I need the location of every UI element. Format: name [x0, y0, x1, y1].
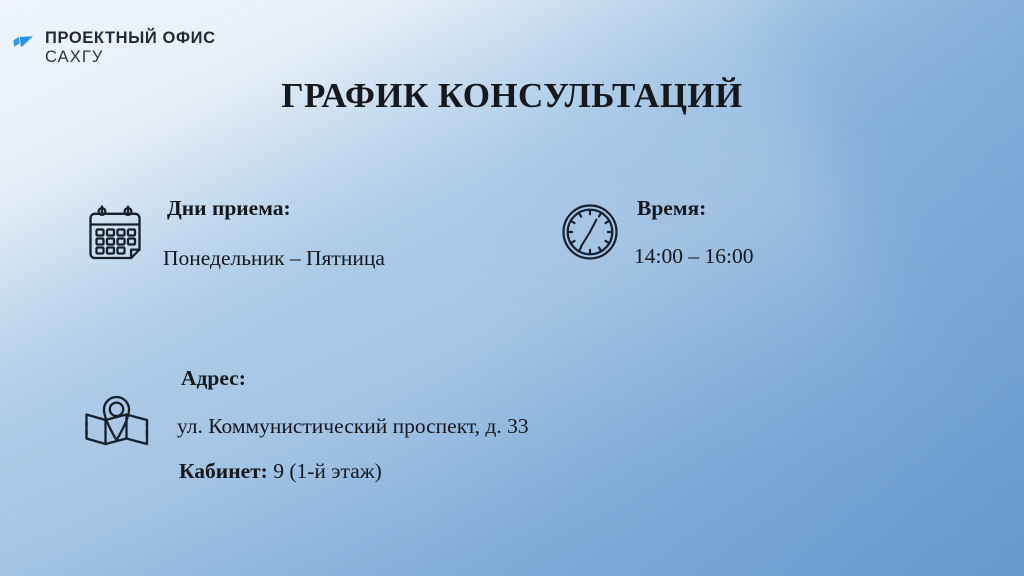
clock-icon — [560, 202, 620, 262]
logo: ПРОЕКТНЫЙ ОФИС САХГУ — [12, 30, 216, 66]
info-block-time: Время: 14:00 – 16:00 — [560, 196, 860, 286]
page-title: ГРАФИК КОНСУЛЬТАЦИЙ — [0, 76, 1024, 116]
map-pin-icon — [84, 386, 150, 452]
info-block-address: Адрес: ул. Коммунистический проспект, д.… — [84, 366, 704, 491]
office-line: Кабинет: 9 (1-й этаж) — [179, 459, 382, 484]
calendar-icon — [84, 202, 146, 264]
address-label: Адрес: — [181, 366, 246, 391]
address-value: ул. Коммунистический проспект, д. 33 — [177, 414, 529, 439]
slide-canvas: ПРОЕКТНЫЙ ОФИС САХГУ ГРАФИК КОНСУЛЬТАЦИЙ — [0, 0, 1024, 576]
office-label: Кабинет: — [179, 459, 268, 483]
logo-line-primary: ПРОЕКТНЫЙ ОФИС — [45, 30, 216, 47]
logo-text: ПРОЕКТНЫЙ ОФИС САХГУ — [45, 30, 216, 66]
logo-line-secondary: САХГУ — [45, 49, 216, 66]
days-value: Понедельник – Пятница — [163, 246, 385, 271]
checkmark-swoosh-icon — [12, 34, 36, 56]
days-label: Дни приема: — [167, 196, 291, 221]
info-block-days: Дни приема: Понедельник – Пятница — [84, 196, 514, 286]
office-value: 9 (1-й этаж) — [273, 459, 382, 483]
time-value: 14:00 – 16:00 — [634, 244, 753, 269]
time-label: Время: — [637, 196, 706, 221]
